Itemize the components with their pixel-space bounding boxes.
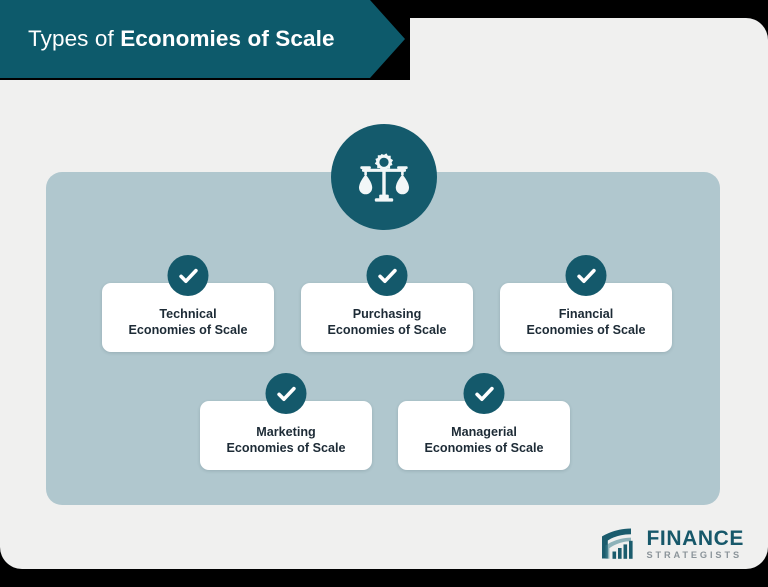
card-managerial[interactable]: Managerial Economies of Scale — [398, 401, 570, 470]
check-icon — [266, 373, 307, 414]
card-financial[interactable]: Financial Economies of Scale — [500, 283, 672, 352]
card-label: Financial Economies of Scale — [527, 306, 646, 338]
page-title-bold: Economies of Scale — [120, 26, 334, 51]
logo-primary-text: FINANCE — [646, 528, 744, 549]
card-technical[interactable]: Technical Economies of Scale — [102, 283, 274, 352]
card-purchasing[interactable]: Purchasing Economies of Scale — [301, 283, 473, 352]
header-banner: Types of Economies of Scale — [0, 0, 405, 78]
card-row-primary: Technical Economies of Scale Purchasing … — [102, 283, 672, 352]
balance-scale-gear-icon — [331, 124, 437, 230]
card-label: Purchasing Economies of Scale — [328, 306, 447, 338]
check-icon — [367, 255, 408, 296]
page-title-regular: Types of — [28, 26, 120, 51]
card-label: Managerial Economies of Scale — [425, 424, 544, 456]
card-row-secondary: Marketing Economies of Scale Managerial … — [200, 401, 570, 470]
logo-text: FINANCE STRATEGISTS — [646, 528, 744, 560]
logo-secondary-text: STRATEGISTS — [646, 551, 744, 560]
page-title: Types of Economies of Scale — [0, 26, 335, 52]
finance-strategists-chart-mark — [600, 527, 640, 561]
check-icon — [168, 255, 209, 296]
infographic-root: Types of Economies of Scale — [0, 0, 768, 587]
card-marketing[interactable]: Marketing Economies of Scale — [200, 401, 372, 470]
brand-logo: FINANCE STRATEGISTS — [600, 527, 744, 561]
check-icon — [464, 373, 505, 414]
card-label: Technical Economies of Scale — [129, 306, 248, 338]
check-icon — [566, 255, 607, 296]
card-label: Marketing Economies of Scale — [227, 424, 346, 456]
